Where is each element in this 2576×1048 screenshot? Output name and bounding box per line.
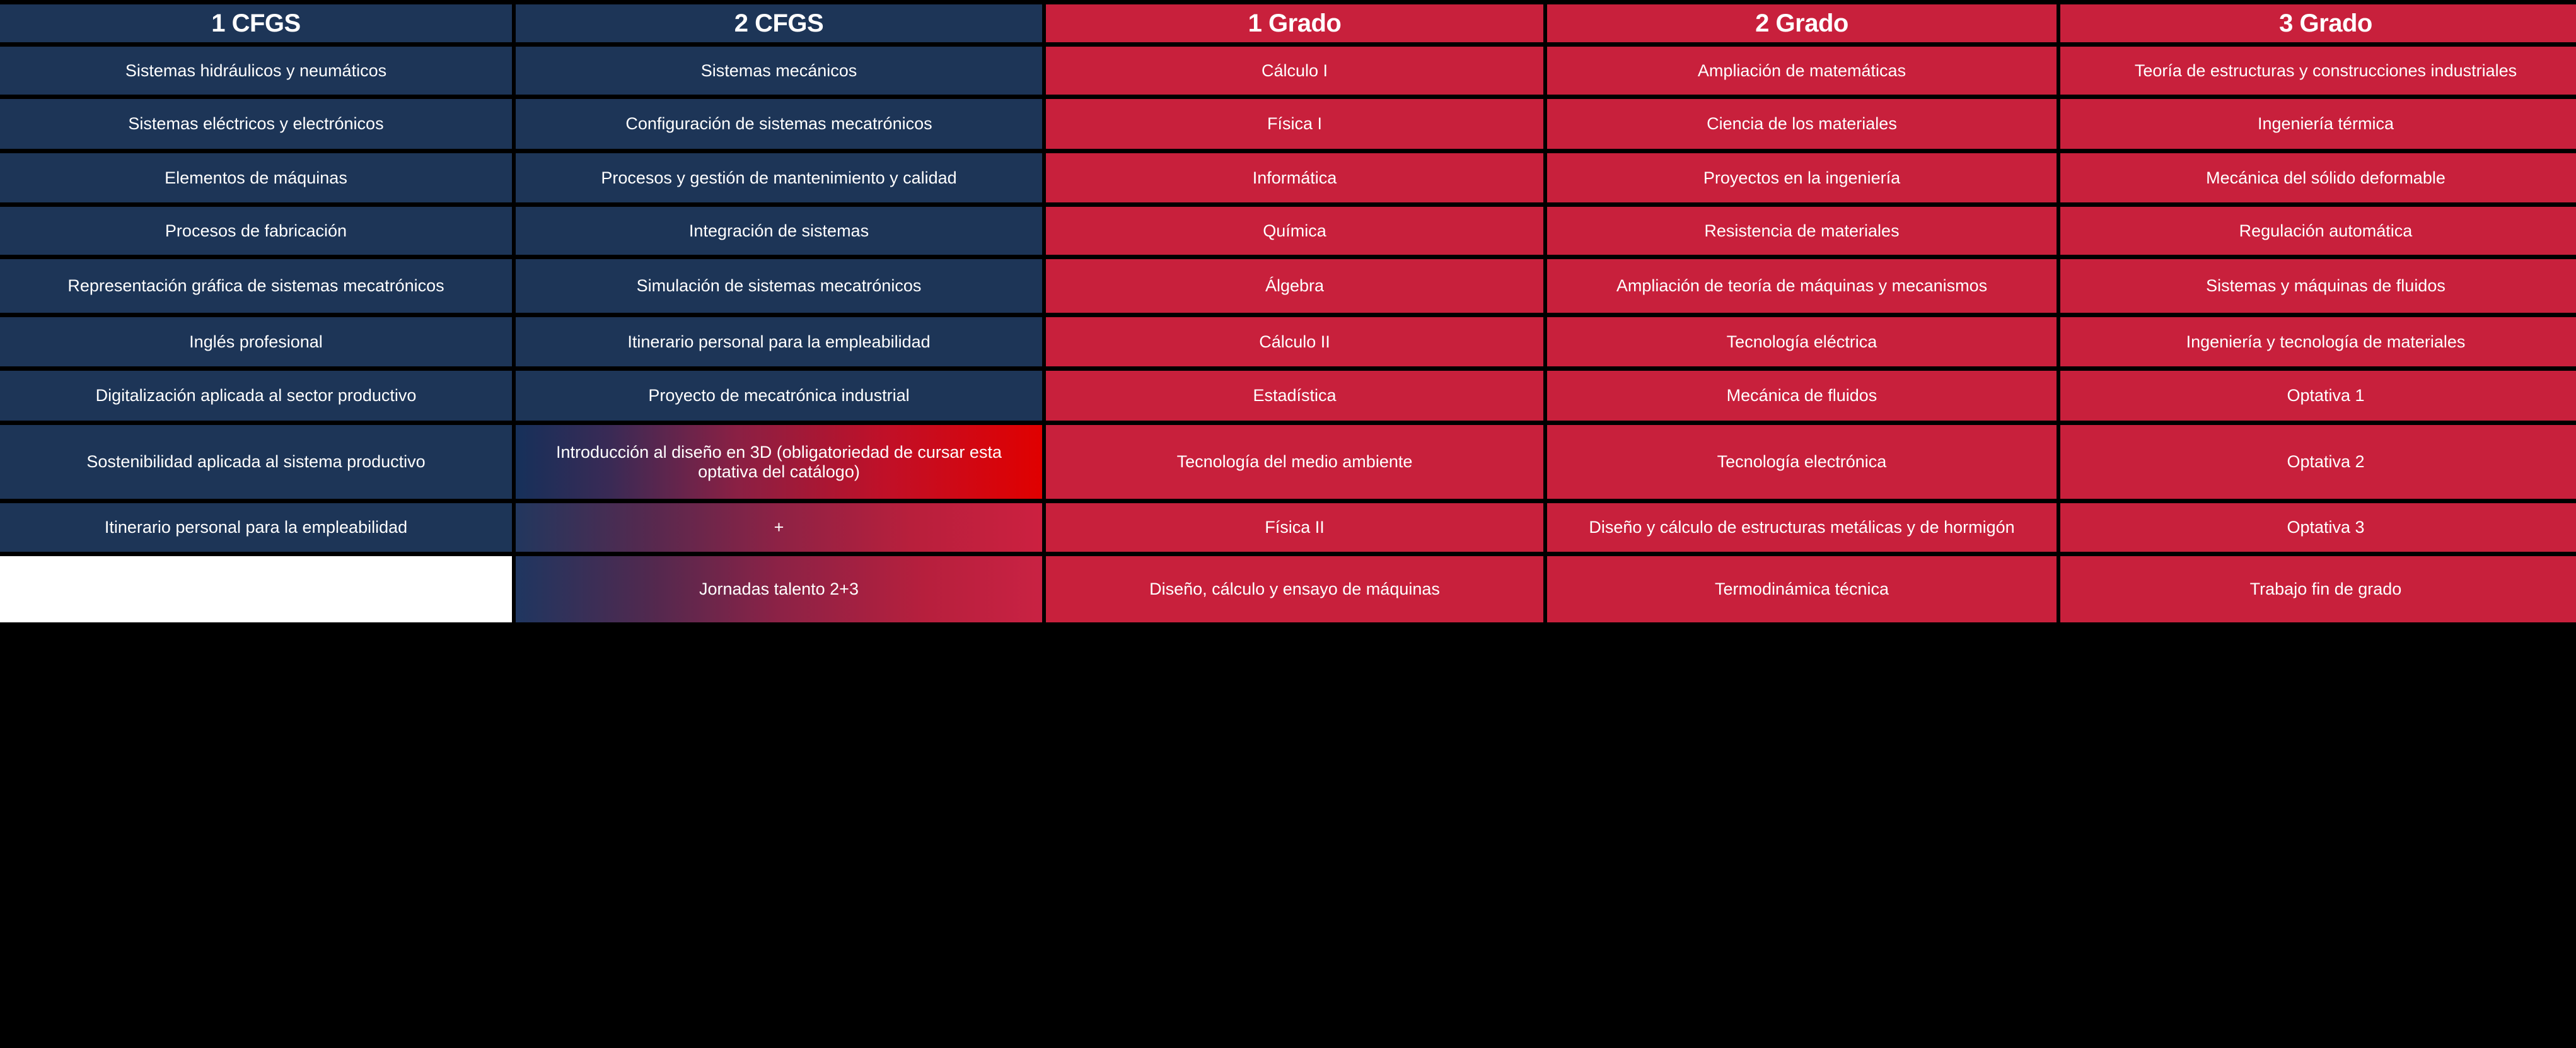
course-cell[interactable]: Física II	[1046, 503, 1543, 552]
course-cell[interactable]: Digitalización aplicada al sector produc…	[0, 371, 512, 421]
course-cell[interactable]: Representación gráfica de sistemas mecat…	[0, 259, 512, 313]
course-cell[interactable]: Itinerario personal para la empleabilida…	[0, 503, 512, 552]
course-cell[interactable]: Tecnología del medio ambiente	[1046, 425, 1543, 499]
course-cell[interactable]: Física I	[1046, 99, 1543, 149]
course-cell[interactable]: Sistemas mecánicos	[516, 47, 1042, 95]
course-cell[interactable]: Ingeniería térmica	[2060, 99, 2576, 149]
course-cell[interactable]: Estadística	[1046, 371, 1543, 421]
course-cell[interactable]: Simulación de sistemas mecatrónicos	[516, 259, 1042, 313]
course-cell[interactable]: Jornadas talento 2+3	[516, 556, 1042, 622]
course-cell[interactable]: Ampliación de teoría de máquinas y mecan…	[1547, 259, 2057, 313]
course-cell[interactable]: Optativa 1	[2060, 371, 2576, 421]
course-cell[interactable]: Diseño y cálculo de estructuras metálica…	[1547, 503, 2057, 552]
course-cell[interactable]: Integración de sistemas	[516, 207, 1042, 255]
course-cell[interactable]: Cálculo II	[1046, 317, 1543, 366]
course-cell[interactable]: Cálculo I	[1046, 47, 1543, 95]
course-cell[interactable]: Ampliación de matemáticas	[1547, 47, 2057, 95]
course-cell[interactable]: Sistemas y máquinas de fluidos	[2060, 259, 2576, 313]
course-cell[interactable]: Diseño, cálculo y ensayo de máquinas	[1046, 556, 1543, 622]
course-cell[interactable]: Proyecto de mecatrónica industrial	[516, 371, 1042, 421]
course-cell[interactable]: Procesos de fabricación	[0, 207, 512, 255]
course-cell[interactable]: Mecánica del sólido deformable	[2060, 153, 2576, 202]
course-cell[interactable]: Química	[1046, 207, 1543, 255]
course-cell[interactable]: Ingeniería y tecnología de materiales	[2060, 317, 2576, 366]
course-cell[interactable]: Ciencia de los materiales	[1547, 99, 2057, 149]
course-cell[interactable]: Informática	[1046, 153, 1543, 202]
course-cell[interactable]: Tecnología eléctrica	[1547, 317, 2057, 366]
column-header-4: 2 Grado	[1547, 4, 2057, 42]
course-cell[interactable]: Proyectos en la ingeniería	[1547, 153, 2057, 202]
course-cell[interactable]: Tecnología electrónica	[1547, 425, 2057, 499]
course-cell[interactable]: Optativa 3	[2060, 503, 2576, 552]
column-header-3: 1 Grado	[1046, 4, 1543, 42]
column-header-1: 1 CFGS	[0, 4, 512, 42]
course-cell[interactable]: Introducción al diseño en 3D (obligatori…	[516, 425, 1042, 499]
course-cell[interactable]: Teoría de estructuras y construcciones i…	[2060, 47, 2576, 95]
course-cell[interactable]: Elementos de máquinas	[0, 153, 512, 202]
course-cell[interactable]: Mecánica de fluidos	[1547, 371, 2057, 421]
course-cell[interactable]: Procesos y gestión de mantenimiento y ca…	[516, 153, 1042, 202]
course-cell[interactable]: Sistemas eléctricos y electrónicos	[0, 99, 512, 149]
column-header-2: 2 CFGS	[516, 4, 1042, 42]
course-cell[interactable]: Inglés profesional	[0, 317, 512, 366]
course-cell[interactable]: Regulación automática	[2060, 207, 2576, 255]
course-cell[interactable]: +	[516, 503, 1042, 552]
course-cell[interactable]: Sostenibilidad aplicada al sistema produ…	[0, 425, 512, 499]
column-header-5: 3 Grado	[2060, 4, 2576, 42]
course-cell[interactable]: Optativa 2	[2060, 425, 2576, 499]
course-cell[interactable]: Trabajo fin de grado	[2060, 556, 2576, 622]
empty-cell	[0, 556, 512, 622]
curriculum-pathway-table: 1 CFGS2 CFGS1 Grado2 Grado3 GradoSistema…	[0, 0, 2576, 1048]
course-cell[interactable]: Álgebra	[1046, 259, 1543, 313]
course-cell[interactable]: Configuración de sistemas mecatrónicos	[516, 99, 1042, 149]
course-cell[interactable]: Itinerario personal para la empleabilida…	[516, 317, 1042, 366]
course-cell[interactable]: Termodinámica técnica	[1547, 556, 2057, 622]
course-cell[interactable]: Sistemas hidráulicos y neumáticos	[0, 47, 512, 95]
course-cell[interactable]: Resistencia de materiales	[1547, 207, 2057, 255]
